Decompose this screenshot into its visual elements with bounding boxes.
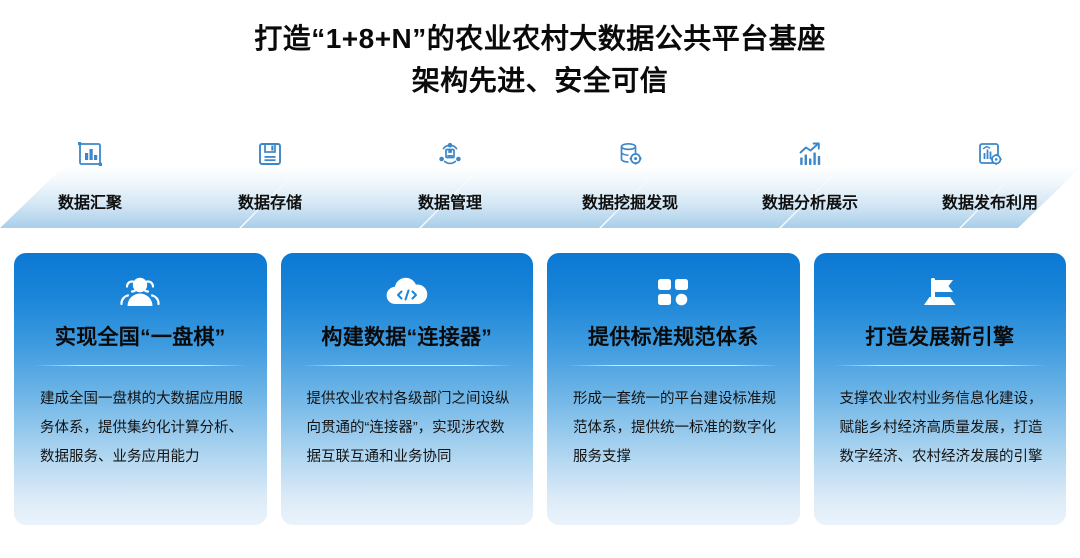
process-ribbon: 数据汇聚 数据存储 bbox=[0, 134, 1080, 234]
feature-card-list: 实现全国“一盘棋” 建成全国一盘棋的大数据应用服务体系，提供集约化计算分析、数据… bbox=[14, 253, 1066, 525]
feature-card-new-engine[interactable]: 打造发展新引擎 支撑农业农村业务信息化建设，赋能乡村经济高质量发展，打造数字经济… bbox=[814, 253, 1067, 525]
card-divider bbox=[567, 365, 779, 366]
ribbon-step-label: 数据发布利用 bbox=[942, 174, 1038, 234]
title-line-1: 打造“1+8+N”的农业农村大数据公共平台基座 bbox=[0, 18, 1080, 60]
floppy-disk-icon bbox=[253, 137, 287, 171]
ribbon-step-data-analysis[interactable]: 数据分析展示 bbox=[720, 134, 900, 234]
feature-card-title: 构建数据“连接器” bbox=[281, 321, 534, 351]
ribbon-step-data-management[interactable]: 数据管理 bbox=[360, 134, 540, 234]
card-divider bbox=[301, 365, 513, 366]
bar-chart-frame-icon bbox=[73, 137, 107, 171]
feature-card-national-coordination[interactable]: 实现全国“一盘棋” 建成全国一盘棋的大数据应用服务体系，提供集约化计算分析、数据… bbox=[14, 253, 267, 525]
ribbon-step-label: 数据汇聚 bbox=[58, 174, 122, 234]
feature-card-standards-system[interactable]: 提供标准规范体系 形成一套统一的平台建设标准规范体系，提供统一标准的数字化服务支… bbox=[547, 253, 800, 525]
grid-blocks-icon bbox=[547, 269, 800, 315]
ribbon-step-label: 数据存储 bbox=[238, 174, 302, 234]
feature-card-title: 打造发展新引擎 bbox=[814, 321, 1067, 351]
card-divider bbox=[834, 365, 1046, 366]
ribbon-step-label: 数据管理 bbox=[418, 174, 482, 234]
slide-root: 打造“1+8+N”的农业农村大数据公共平台基座 架构先进、安全可信 数 bbox=[0, 0, 1080, 558]
title-line-2: 架构先进、安全可信 bbox=[0, 60, 1080, 102]
feature-card-title: 实现全国“一盘棋” bbox=[14, 321, 267, 351]
feature-card-body: 提供农业农村各级部门之间设纵向贯通的“连接器”，实现涉农数据互联互通和业务协同 bbox=[307, 385, 512, 472]
feature-card-title: 提供标准规范体系 bbox=[547, 321, 800, 351]
feature-card-data-connector[interactable]: 构建数据“连接器” 提供农业农村各级部门之间设纵向贯通的“连接器”，实现涉农数据… bbox=[281, 253, 534, 525]
ribbon-step-label: 数据分析展示 bbox=[762, 174, 858, 234]
people-group-icon bbox=[14, 269, 267, 315]
report-gear-icon bbox=[973, 137, 1007, 171]
ribbon-step-data-storage[interactable]: 数据存储 bbox=[180, 134, 360, 234]
trend-bar-chart-icon bbox=[793, 137, 827, 171]
feature-card-body: 形成一套统一的平台建设标准规范体系，提供统一标准的数字化服务支撑 bbox=[573, 385, 778, 472]
feature-card-body: 支撑农业农村业务信息化建设，赋能乡村经济高质量发展，打造数字经济、农村经济发展的… bbox=[840, 385, 1045, 472]
database-gear-icon bbox=[613, 137, 647, 171]
flag-icon bbox=[814, 269, 1067, 315]
ribbon-step-label: 数据挖掘发现 bbox=[582, 174, 678, 234]
page-title: 打造“1+8+N”的农业农村大数据公共平台基座 架构先进、安全可信 bbox=[0, 18, 1080, 102]
database-nodes-icon bbox=[433, 137, 467, 171]
ribbon-step-list: 数据汇聚 数据存储 bbox=[0, 134, 1080, 234]
feature-card-body: 建成全国一盘棋的大数据应用服务体系，提供集约化计算分析、数据服务、业务应用能力 bbox=[40, 385, 245, 472]
card-divider bbox=[34, 365, 246, 366]
ribbon-step-data-publishing[interactable]: 数据发布利用 bbox=[900, 134, 1080, 234]
ribbon-step-data-aggregation[interactable]: 数据汇聚 bbox=[0, 134, 180, 234]
cloud-code-icon bbox=[281, 269, 534, 315]
ribbon-step-data-mining[interactable]: 数据挖掘发现 bbox=[540, 134, 720, 234]
